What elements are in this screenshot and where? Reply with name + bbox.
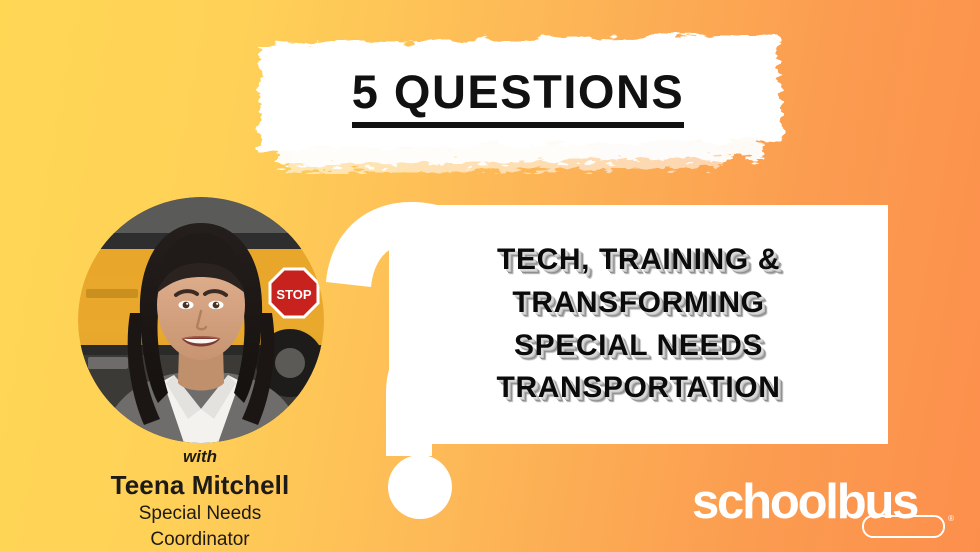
logo-fleet-badge: FLEET [862, 515, 945, 538]
speaker-credit: with Teena Mitchell Special Needs Coordi… [50, 446, 350, 552]
svg-text:STOP: STOP [276, 287, 311, 302]
main-title-line-2: TRANSFORMING [411, 282, 866, 325]
speaker-role-line-1: Special Needs [50, 501, 350, 526]
main-title-line-3: SPECIAL NEEDS [411, 325, 866, 368]
eyebrow-title-text: 5 QUESTIONS [352, 68, 685, 128]
main-title-line-1: TECH, TRAINING & [411, 239, 866, 282]
speaker-role-line-2: Coordinator [50, 527, 350, 552]
speaker-portrait-photo: STOP [78, 197, 324, 443]
main-title-card: TECH, TRAINING & TRANSFORMING SPECIAL NE… [389, 205, 888, 444]
main-title-text: TECH, TRAINING & TRANSFORMING SPECIAL NE… [389, 239, 888, 409]
logo-registered-mark: ® [948, 514, 954, 523]
eyebrow-title: 5 QUESTIONS [248, 68, 788, 128]
main-title-line-4: TRANSPORTATION [411, 367, 866, 410]
schoolbus-fleet-logo: schoolbus FLEET ® [692, 478, 954, 540]
with-label: with [50, 446, 350, 469]
speaker-name: Teena Mitchell [50, 469, 350, 502]
promo-graphic-canvas: 5 QUESTIONS TECH, TRAINING & TRANSFORMIN… [0, 0, 980, 552]
